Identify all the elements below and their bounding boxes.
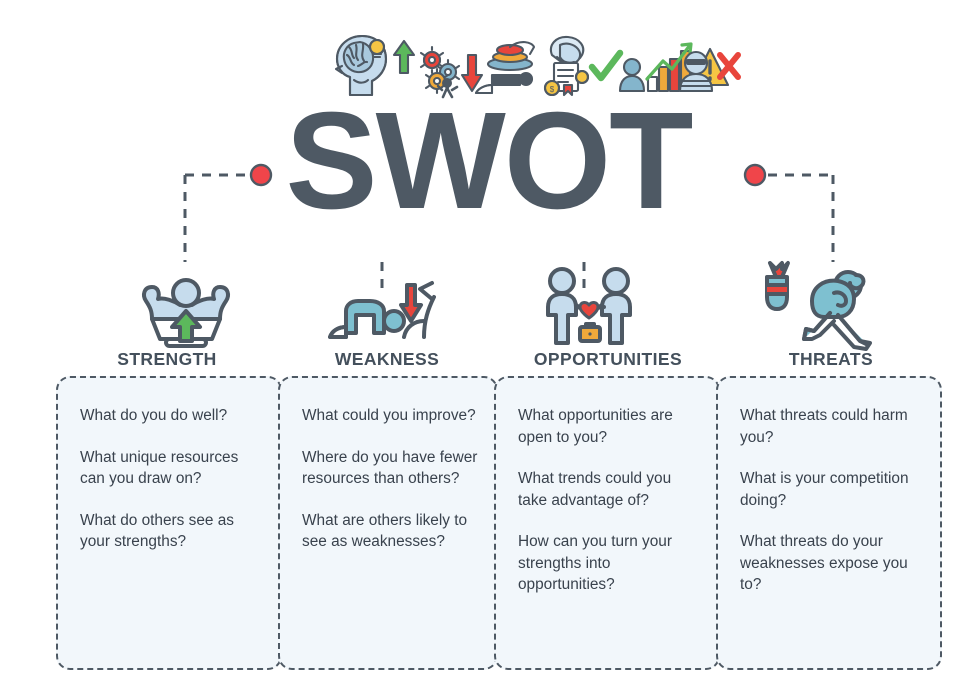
column-headers: STRENGTH WEAKNESS OPPORTUNITIES THREATS xyxy=(0,349,977,373)
handshake-heart-briefcase-icon xyxy=(538,263,640,351)
question-item: What trends could you take advantage of? xyxy=(518,468,700,511)
question-item: What is your competition doing? xyxy=(740,468,922,511)
question-item: Where do you have fewer resources than o… xyxy=(302,447,478,490)
exhausted-person-down-arrow-flag-icon xyxy=(328,275,436,351)
question-item: What do others see as your strengths? xyxy=(80,510,262,553)
column-header-strength: STRENGTH xyxy=(56,349,278,370)
question-item: What threats do your weaknesses expose y… xyxy=(740,531,922,596)
question-item: What opportunities are open to you? xyxy=(518,405,700,448)
question-item: What do you do well? xyxy=(80,405,262,427)
question-item: What unique resources can you draw on? xyxy=(80,447,262,490)
question-item: How can you turn your strengths into opp… xyxy=(518,531,700,596)
question-item: What threats could harm you? xyxy=(740,405,922,448)
question-item: What could you improve? xyxy=(302,405,478,427)
quadrant-strength[interactable]: What do you do well? What unique resourc… xyxy=(56,376,282,670)
quadrant-weakness[interactable]: What could you improve? Where do you hav… xyxy=(278,376,498,670)
quadrant-threats[interactable]: What threats could harm you? What is you… xyxy=(716,376,942,670)
swot-quadrant-boxes: What do you do well? What unique resourc… xyxy=(56,376,942,670)
right-connector-dot xyxy=(745,165,765,185)
left-connector-dot xyxy=(251,165,271,185)
quadrant-opportunities[interactable]: What opportunities are open to you? What… xyxy=(494,376,720,670)
column-header-weakness: WEAKNESS xyxy=(278,349,496,370)
falling-bomb-fleeing-person-icon xyxy=(760,259,872,351)
category-icon-row xyxy=(0,255,977,350)
strong-person-up-arrow-icon xyxy=(134,271,238,351)
swot-diagram: $ xyxy=(0,0,977,687)
column-header-opportunities: OPPORTUNITIES xyxy=(496,349,720,370)
column-header-threats: THREATS xyxy=(720,349,942,370)
question-item: What are others likely to see as weaknes… xyxy=(302,510,478,553)
